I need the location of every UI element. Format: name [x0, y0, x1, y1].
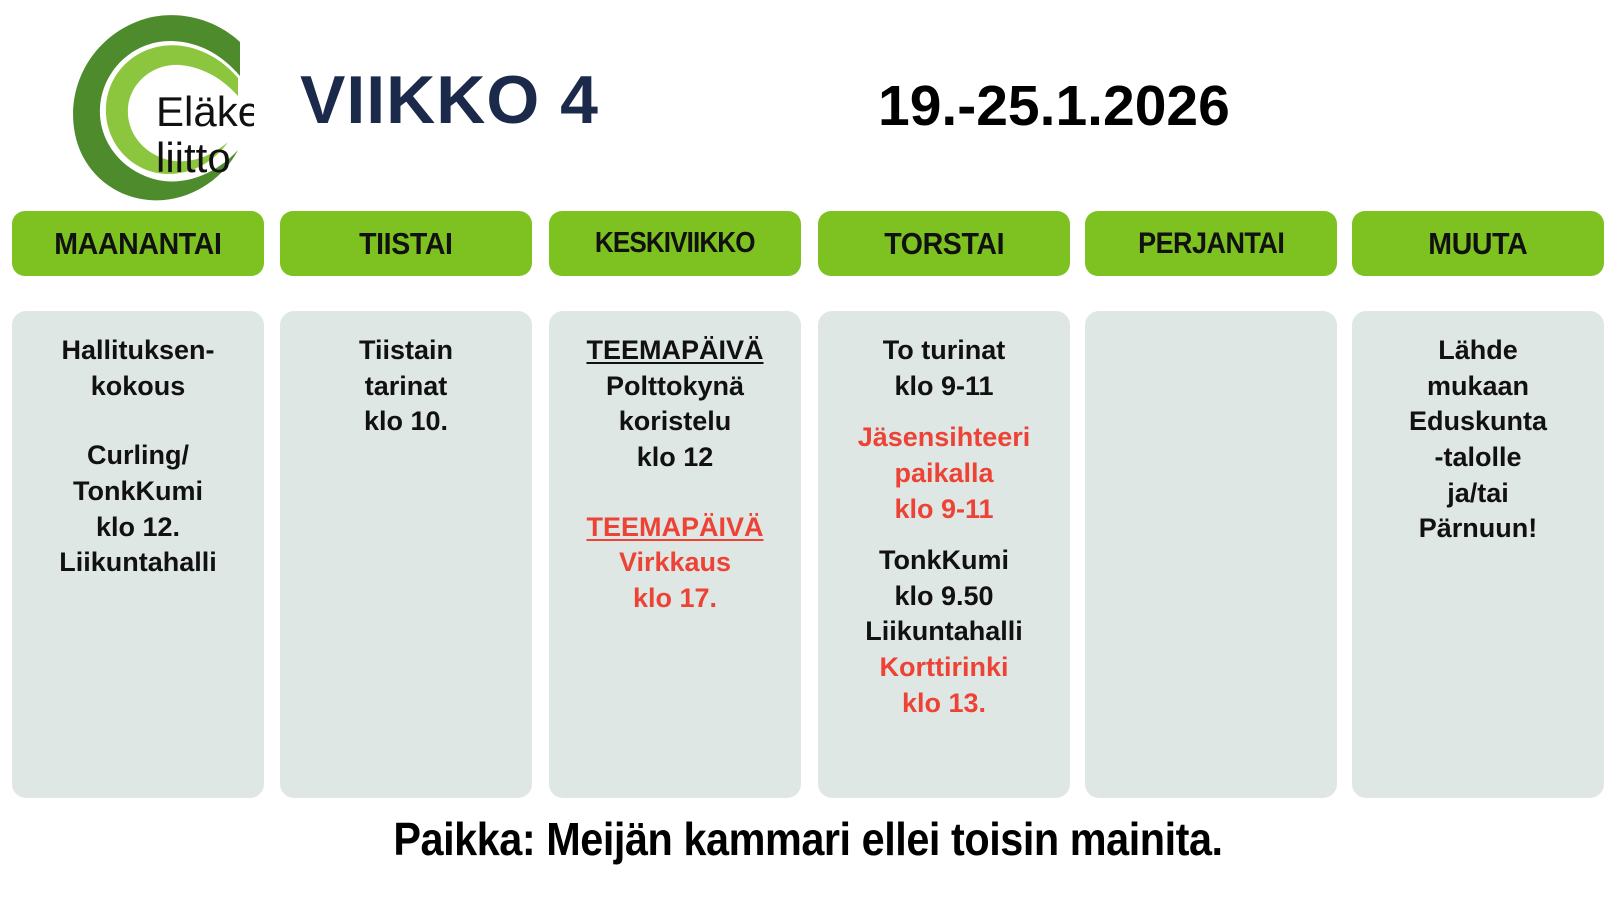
activity-line: Lähde — [1358, 333, 1598, 369]
day-header-label: TORSTAI — [884, 226, 1004, 262]
logo-text-line2: liitto — [156, 134, 231, 181]
day-header-label: MAANANTAI — [54, 226, 221, 262]
activity-line: klo 13. — [824, 686, 1064, 722]
activity-line: klo 9.50 — [824, 579, 1064, 615]
day-column-tiistai: TIISTAITiistaintarinatklo 10. — [280, 211, 532, 801]
activity-line: Curling/ — [18, 438, 258, 474]
poster-header: Eläke- liitto VIIKKO 4 19.-25.1.2026 — [0, 0, 1616, 205]
week-title: VIIKKO 4 — [300, 66, 720, 134]
activity-line: Virkkaus — [555, 545, 795, 581]
activity-line: TEEMAPÄIVÄ — [555, 333, 795, 369]
day-column-muuta: MUUTALähdemukaanEduskunta-talolleja/taiP… — [1352, 211, 1604, 801]
activity-line: kokous — [18, 369, 258, 405]
entry-spacer — [555, 476, 795, 510]
activity-line: Pärnuun! — [1358, 511, 1598, 547]
activity-line: Eduskunta — [1358, 404, 1598, 440]
activity-line: Jäsensihteeri — [824, 420, 1064, 456]
activity-line: tarinat — [286, 369, 526, 405]
schedule-grid: MAANANTAIHallituksen-kokousCurling/TonkK… — [0, 211, 1616, 801]
day-header-label: TIISTAI — [359, 226, 453, 262]
activity-line: klo 12. — [18, 510, 258, 546]
day-column-keskiviikko: KESKIVIIKKOTEEMAPÄIVÄPolttokynäkoristelu… — [549, 211, 801, 801]
day-header-keskiviikko[interactable]: KESKIVIIKKO — [549, 211, 801, 276]
activity-line: paikalla — [824, 456, 1064, 492]
day-header-torstai[interactable]: TORSTAI — [818, 211, 1070, 276]
activity-line: Hallituksen- — [18, 333, 258, 369]
activity-line: Liikuntahalli — [18, 545, 258, 581]
day-card-keskiviikko: TEEMAPÄIVÄPolttokynäkoristeluklo 12TEEMA… — [549, 311, 801, 798]
day-header-muuta[interactable]: MUUTA — [1352, 211, 1604, 276]
activity-line: TEEMAPÄIVÄ — [555, 510, 795, 546]
day-column-perjantai: PERJANTAI — [1085, 211, 1337, 801]
day-header-label: KESKIVIIKKO — [595, 227, 755, 260]
activity-heading: TEEMAPÄIVÄ — [586, 512, 763, 542]
date-range: 19.-25.1.2026 — [878, 78, 1298, 135]
day-card-muuta: LähdemukaanEduskunta-talolleja/taiPärnuu… — [1352, 311, 1604, 798]
day-header-label: PERJANTAI — [1138, 227, 1284, 261]
day-header-tiistai[interactable]: TIISTAI — [280, 211, 532, 276]
day-card-torstai: To turinatklo 9-11Jäsensihteeripaikallak… — [818, 311, 1070, 798]
day-card-tiistai: Tiistaintarinatklo 10. — [280, 311, 532, 798]
activity-line: To turinat — [824, 333, 1064, 369]
day-column-maanantai: MAANANTAIHallituksen-kokousCurling/TonkK… — [12, 211, 264, 801]
day-card-maanantai: Hallituksen-kokousCurling/TonkKumiklo 12… — [12, 311, 264, 798]
activity-line: klo 17. — [555, 581, 795, 617]
activity-line: Korttirinki — [824, 650, 1064, 686]
day-header-label: MUUTA — [1428, 226, 1527, 262]
activity-line: Polttokynä — [555, 369, 795, 405]
day-column-torstai: TORSTAITo turinatklo 9-11Jäsensihteeripa… — [818, 211, 1070, 801]
activity-line: TonkKumi — [824, 543, 1064, 579]
entry-spacer — [824, 404, 1064, 420]
activity-line: TonkKumi — [18, 474, 258, 510]
activity-line: koristelu — [555, 404, 795, 440]
activity-line: klo 9-11 — [824, 369, 1064, 405]
elakeliitto-logo: Eläke- liitto — [62, 14, 254, 202]
entry-spacer — [824, 527, 1064, 543]
activity-line: Tiistain — [286, 333, 526, 369]
entry-spacer — [18, 404, 258, 438]
activity-line: ja/tai — [1358, 476, 1598, 512]
activity-heading: TEEMAPÄIVÄ — [586, 335, 763, 365]
activity-line: klo 10. — [286, 404, 526, 440]
day-card-perjantai — [1085, 311, 1337, 798]
activity-line: mukaan — [1358, 369, 1598, 405]
activity-line: klo 9-11 — [824, 492, 1064, 528]
logo-text-line1: Eläke- — [156, 88, 254, 135]
activity-line: Liikuntahalli — [824, 614, 1064, 650]
day-header-maanantai[interactable]: MAANANTAI — [12, 211, 264, 276]
day-header-perjantai[interactable]: PERJANTAI — [1085, 211, 1337, 276]
footer-note: Paikka: Meijän kammari ellei toisin main… — [81, 812, 1535, 866]
activity-line: -talolle — [1358, 440, 1598, 476]
activity-line: klo 12 — [555, 440, 795, 476]
